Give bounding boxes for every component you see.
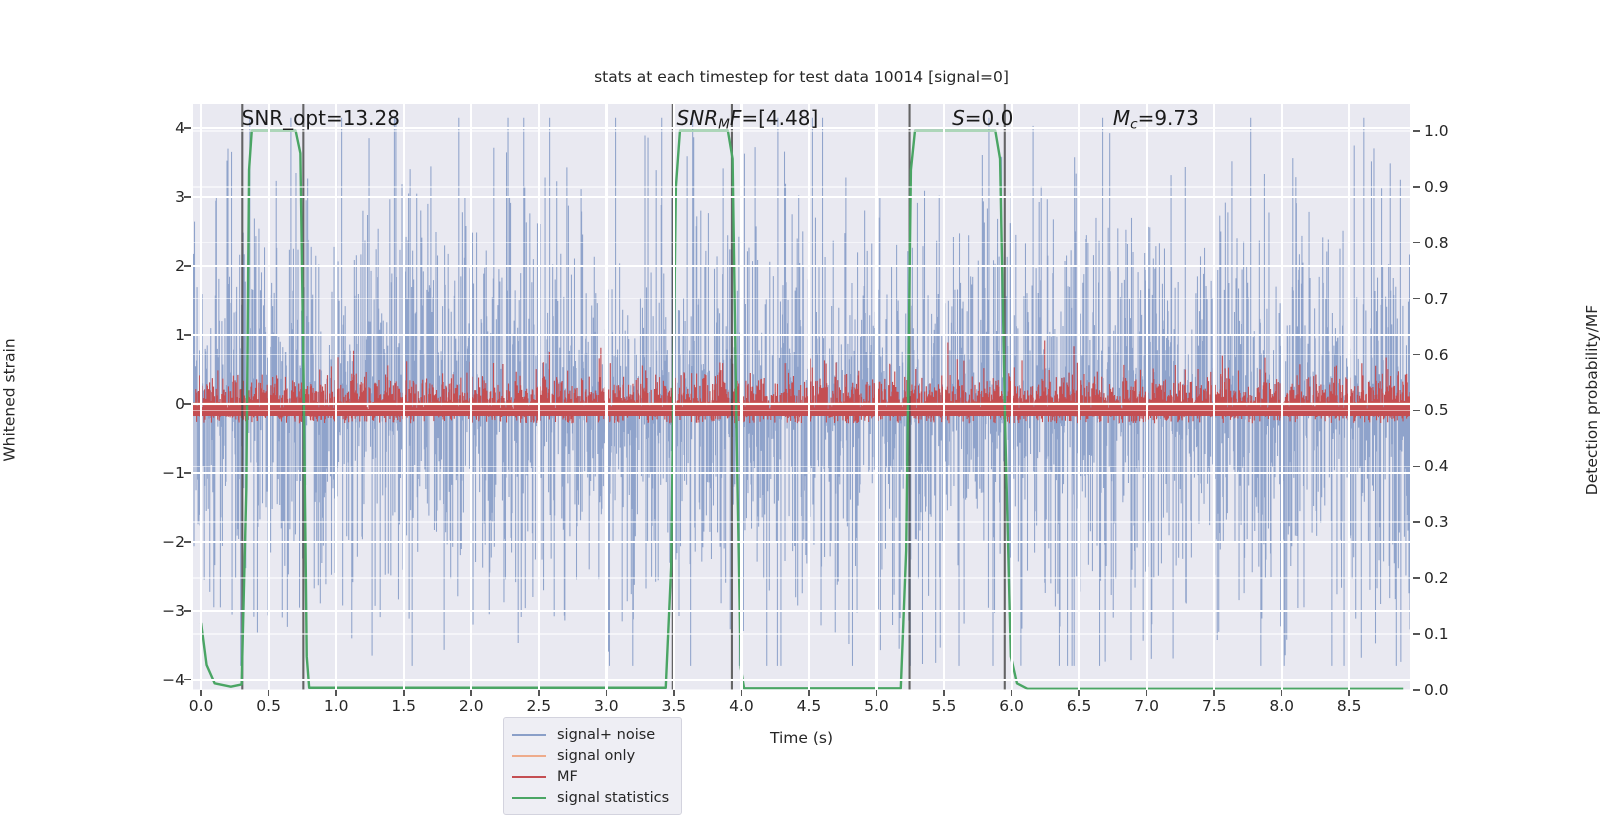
y-tick-mark-left <box>184 610 191 612</box>
y-tick-label-right: 0.7 <box>1424 290 1449 308</box>
gridline-horizontal <box>193 610 1410 612</box>
y-tick-mark-right <box>1413 521 1420 523</box>
x-tick-mark <box>1281 690 1283 696</box>
gridline-horizontal <box>193 334 1410 336</box>
legend-item[interactable]: signal+ noise <box>512 724 669 745</box>
y-tick-mark-left <box>184 265 191 267</box>
gridline-horizontal <box>193 541 1410 543</box>
plot-area: SNR_opt=13.28SNRMF=[4.48]S=0.0Mc=9.73 si… <box>193 104 1410 690</box>
y-tick-label-left: −4 <box>162 671 185 689</box>
x-tick-label: 4.5 <box>797 697 822 715</box>
gridline-vertical <box>740 104 742 690</box>
legend-item[interactable]: MF <box>512 766 669 787</box>
x-tick-label: 1.5 <box>391 697 416 715</box>
y-tick-label-left: −1 <box>162 464 185 482</box>
gridline-vertical <box>538 104 540 690</box>
y-tick-mark-left <box>184 196 191 198</box>
gridline-vertical <box>943 104 945 690</box>
x-tick-label: 7.0 <box>1134 697 1159 715</box>
x-axis-label: Time (s) <box>193 729 1410 747</box>
y-tick-mark-right <box>1413 130 1420 132</box>
gridline-horizontal-minor <box>193 466 1410 468</box>
gridline-vertical <box>470 104 472 690</box>
y-tick-label-right: 0.3 <box>1424 513 1449 531</box>
y-tick-mark-left <box>184 541 191 543</box>
gridline-vertical <box>403 104 405 690</box>
x-tick-mark <box>808 690 810 696</box>
gridline-horizontal <box>193 403 1410 405</box>
legend-swatch-icon <box>512 776 546 778</box>
legend-label: MF <box>557 769 578 785</box>
annotation-snr-mf: SNRMF=[4.48] <box>677 106 819 132</box>
y-tick-label-right: 0.4 <box>1424 457 1449 475</box>
y-tick-mark-right <box>1413 354 1420 356</box>
gridline-horizontal-minor <box>193 633 1410 635</box>
y-tick-label-left: −3 <box>162 602 185 620</box>
legend-item[interactable]: signal statistics <box>512 787 669 808</box>
legend-swatch-icon <box>512 734 546 736</box>
gridline-vertical <box>673 104 675 690</box>
y-tick-mark-left <box>184 472 191 474</box>
gridline-vertical <box>268 104 270 690</box>
gridline-vertical <box>1078 104 1080 690</box>
x-tick-mark <box>1213 690 1215 696</box>
x-tick-label: 2.5 <box>526 697 551 715</box>
y-tick-mark-left <box>184 679 191 681</box>
x-tick-label: 2.0 <box>459 697 484 715</box>
y-tick-label-right: 0.1 <box>1424 625 1449 643</box>
y-tick-mark-right <box>1413 466 1420 468</box>
gridline-vertical <box>808 104 810 690</box>
x-tick-label: 3.5 <box>662 697 687 715</box>
y-tick-label-right: 1.0 <box>1424 122 1449 140</box>
gridline-vertical <box>1348 104 1350 690</box>
y-axis-label-right: Detection probability/MF <box>1583 305 1600 495</box>
legend-swatch-icon <box>512 755 546 757</box>
legend-label: signal statistics <box>557 790 669 806</box>
gridline-vertical <box>335 104 337 690</box>
y-tick-mark-right <box>1413 242 1420 244</box>
y-tick-label-right: 0.6 <box>1424 346 1449 364</box>
x-tick-label: 7.5 <box>1202 697 1227 715</box>
y-tick-mark-right <box>1413 633 1420 635</box>
x-tick-mark <box>943 690 945 696</box>
x-tick-label: 8.5 <box>1337 697 1362 715</box>
x-tick-mark <box>673 690 675 696</box>
gridline-horizontal <box>193 265 1410 267</box>
gridline-horizontal-minor <box>193 577 1410 579</box>
gridline-horizontal-minor <box>193 354 1410 356</box>
y-tick-label-right: 0.0 <box>1424 681 1449 699</box>
gridline-horizontal-minor <box>193 298 1410 300</box>
chart-title: stats at each timestep for test data 100… <box>193 68 1410 86</box>
y-tick-label-left: −2 <box>162 533 185 551</box>
y-tick-mark-right <box>1413 577 1420 579</box>
x-tick-label: 1.0 <box>324 697 349 715</box>
x-tick-mark <box>538 690 540 696</box>
gridline-vertical <box>1281 104 1283 690</box>
x-tick-label: 5.5 <box>932 697 957 715</box>
x-tick-label: 0.0 <box>189 697 214 715</box>
x-tick-mark <box>1078 690 1080 696</box>
gridline-horizontal <box>193 679 1410 681</box>
figure-canvas: stats at each timestep for test data 100… <box>0 0 1600 800</box>
legend-label: signal only <box>557 748 635 764</box>
gridline-horizontal <box>193 472 1410 474</box>
y-tick-label-right: 0.2 <box>1424 569 1449 587</box>
gridline-vertical <box>1011 104 1013 690</box>
annotation-s-value: S=0.0 <box>952 106 1013 130</box>
y-tick-mark-right <box>1413 298 1420 300</box>
x-tick-label: 8.0 <box>1269 697 1294 715</box>
x-tick-mark <box>876 690 878 696</box>
x-tick-mark <box>200 690 202 696</box>
y-tick-label-right: 0.5 <box>1424 401 1449 419</box>
x-tick-label: 4.0 <box>729 697 754 715</box>
x-tick-mark <box>741 690 743 696</box>
x-tick-label: 3.0 <box>594 697 619 715</box>
x-tick-mark <box>268 690 270 696</box>
annotation-mchirp: Mc=9.73 <box>1113 106 1199 132</box>
gridline-horizontal <box>193 196 1410 198</box>
y-tick-mark-right <box>1413 689 1420 691</box>
y-tick-mark-left <box>184 334 191 336</box>
x-tick-label: 6.5 <box>1067 697 1092 715</box>
x-tick-mark <box>335 690 337 696</box>
gridline-vertical <box>605 104 607 690</box>
y-axis-label-left: Whitened strain <box>1 338 19 461</box>
x-tick-label: 0.5 <box>256 697 281 715</box>
annotation-snr-opt: SNR_opt=13.28 <box>242 106 400 130</box>
x-tick-mark <box>403 690 405 696</box>
gridline-vertical <box>200 104 202 690</box>
y-tick-mark-right <box>1413 410 1420 412</box>
gridline-vertical <box>875 104 877 690</box>
x-tick-label: 5.0 <box>864 697 889 715</box>
gridline-horizontal-minor <box>193 410 1410 412</box>
x-tick-mark <box>606 690 608 696</box>
legend-label: signal+ noise <box>557 727 655 743</box>
x-tick-mark <box>1146 690 1148 696</box>
x-tick-mark <box>470 690 472 696</box>
x-tick-mark <box>1011 690 1013 696</box>
gridline-horizontal-minor <box>193 242 1410 244</box>
y-tick-label-right: 0.9 <box>1424 178 1449 196</box>
y-tick-mark-left <box>184 127 191 129</box>
gridline-vertical <box>1213 104 1215 690</box>
x-tick-label: 6.0 <box>999 697 1024 715</box>
legend-swatch-icon <box>512 797 546 799</box>
series-layer <box>193 104 1410 690</box>
gridline-horizontal-minor <box>193 186 1410 188</box>
gridline-horizontal-minor <box>193 689 1410 691</box>
y-tick-mark-left <box>184 403 191 405</box>
legend[interactable]: signal+ noisesignal onlyMFsignal statist… <box>503 717 682 815</box>
y-tick-label-right: 0.8 <box>1424 234 1449 252</box>
y-tick-mark-right <box>1413 186 1420 188</box>
legend-item[interactable]: signal only <box>512 745 669 766</box>
gridline-horizontal-minor <box>193 521 1410 523</box>
gridline-vertical <box>1146 104 1148 690</box>
x-tick-mark <box>1348 690 1350 696</box>
